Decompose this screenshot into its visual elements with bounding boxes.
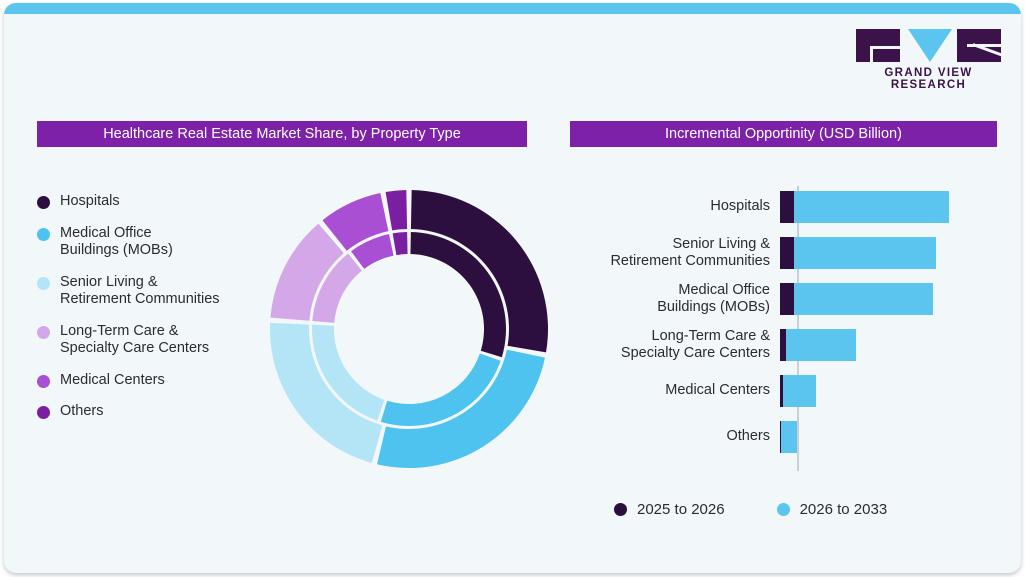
bar-track [780,322,856,368]
donut-legend-label: Hospitals [60,193,120,211]
donut-legend-label: Long-Term Care & Specialty Care Centers [60,323,209,358]
donut-legend-item[interactable]: Medical Centers [37,372,267,390]
legend-swatch-icon [37,326,50,339]
donut-legend-item[interactable]: Others [37,403,267,421]
incremental-opportunity-bar-chart: HospitalsSenior Living & Retirement Comm… [570,178,1000,483]
bar-chart-row[interactable]: Long-Term Care & Specialty Care Centers [570,322,856,368]
logo-wordmark: GRAND VIEW RESEARCH [856,67,1001,91]
bar-category-label: Medical Office Buildings (MOBs) [570,282,780,317]
bar-chart-row[interactable]: Medical Centers [570,368,816,414]
bar-chart-row[interactable]: Hospitals [570,184,949,230]
bar-segment-2026-2033[interactable] [794,283,933,315]
bar-segment-2025-2026[interactable] [780,283,794,315]
legend-swatch-icon [614,503,627,516]
bar-segment-2025-2026[interactable] [780,237,794,269]
g-block-icon [856,29,900,62]
donut-legend-label: Others [60,403,104,421]
donut-legend-label: Medical Office Buildings (MOBs) [60,225,173,260]
donut-legend-label: Senior Living & Retirement Communities [60,274,220,309]
donut-legend: HospitalsMedical Office Buildings (MOBs)… [37,193,267,435]
bar-chart-row[interactable]: Medical Office Buildings (MOBs) [570,276,933,322]
bar-track [780,276,933,322]
bar-category-label: Hospitals [570,198,780,216]
donut-inner-segment[interactable] [393,232,408,255]
bar-track [780,368,816,414]
grand-view-research-logo: GRAND VIEW RESEARCH [856,29,1001,79]
legend-swatch-icon [37,406,50,419]
donut-legend-item[interactable]: Hospitals [37,193,267,211]
donut-outer-segment[interactable] [386,190,408,230]
bar-track [780,230,936,276]
bar-legend-label: 2026 to 2033 [800,501,888,518]
logo-glyph-group [856,29,1001,62]
bar-category-label: Long-Term Care & Specialty Care Centers [570,328,780,363]
bar-segment-2026-2033[interactable] [783,375,816,407]
donut-legend-label: Medical Centers [60,372,165,390]
bar-chart-row[interactable]: Senior Living & Retirement Communities [570,230,936,276]
legend-swatch-icon [37,375,50,388]
donut-legend-item[interactable]: Medical Office Buildings (MOBs) [37,225,267,260]
bar-chart-legend: 2025 to 20262026 to 2033 [614,501,939,518]
legend-swatch-icon [37,228,50,241]
bar-chart-row[interactable]: Others [570,414,797,460]
v-triangle-icon [908,29,952,62]
infographic-card: GRAND VIEW RESEARCH Healthcare Real Esta… [4,3,1021,573]
top-accent-bar [4,3,1021,14]
left-panel-title: Healthcare Real Estate Market Share, by … [37,121,527,147]
donut-legend-item[interactable]: Senior Living & Retirement Communities [37,274,267,309]
bar-category-label: Medical Centers [570,382,780,400]
bar-track [780,414,797,460]
legend-swatch-icon [37,277,50,290]
bar-segment-2025-2026[interactable] [780,191,794,223]
bar-track [780,184,949,230]
bar-legend-label: 2025 to 2026 [637,501,725,518]
bar-legend-item[interactable]: 2026 to 2033 [777,501,888,518]
legend-swatch-icon [777,503,790,516]
bar-segment-2026-2033[interactable] [794,237,936,269]
bar-category-label: Senior Living & Retirement Communities [570,236,780,271]
bar-segment-2026-2033[interactable] [786,329,856,361]
donut-legend-item[interactable]: Long-Term Care & Specialty Care Centers [37,323,267,358]
bar-legend-item[interactable]: 2025 to 2026 [614,501,725,518]
right-panel-title: Incremental Opportinity (USD Billion) [570,121,997,147]
legend-swatch-icon [37,196,50,209]
bar-segment-2026-2033[interactable] [781,421,797,453]
bar-category-label: Others [570,428,780,446]
bar-segment-2026-2033[interactable] [794,191,949,223]
r-block-icon [957,29,1001,62]
donut-chart [269,189,549,469]
